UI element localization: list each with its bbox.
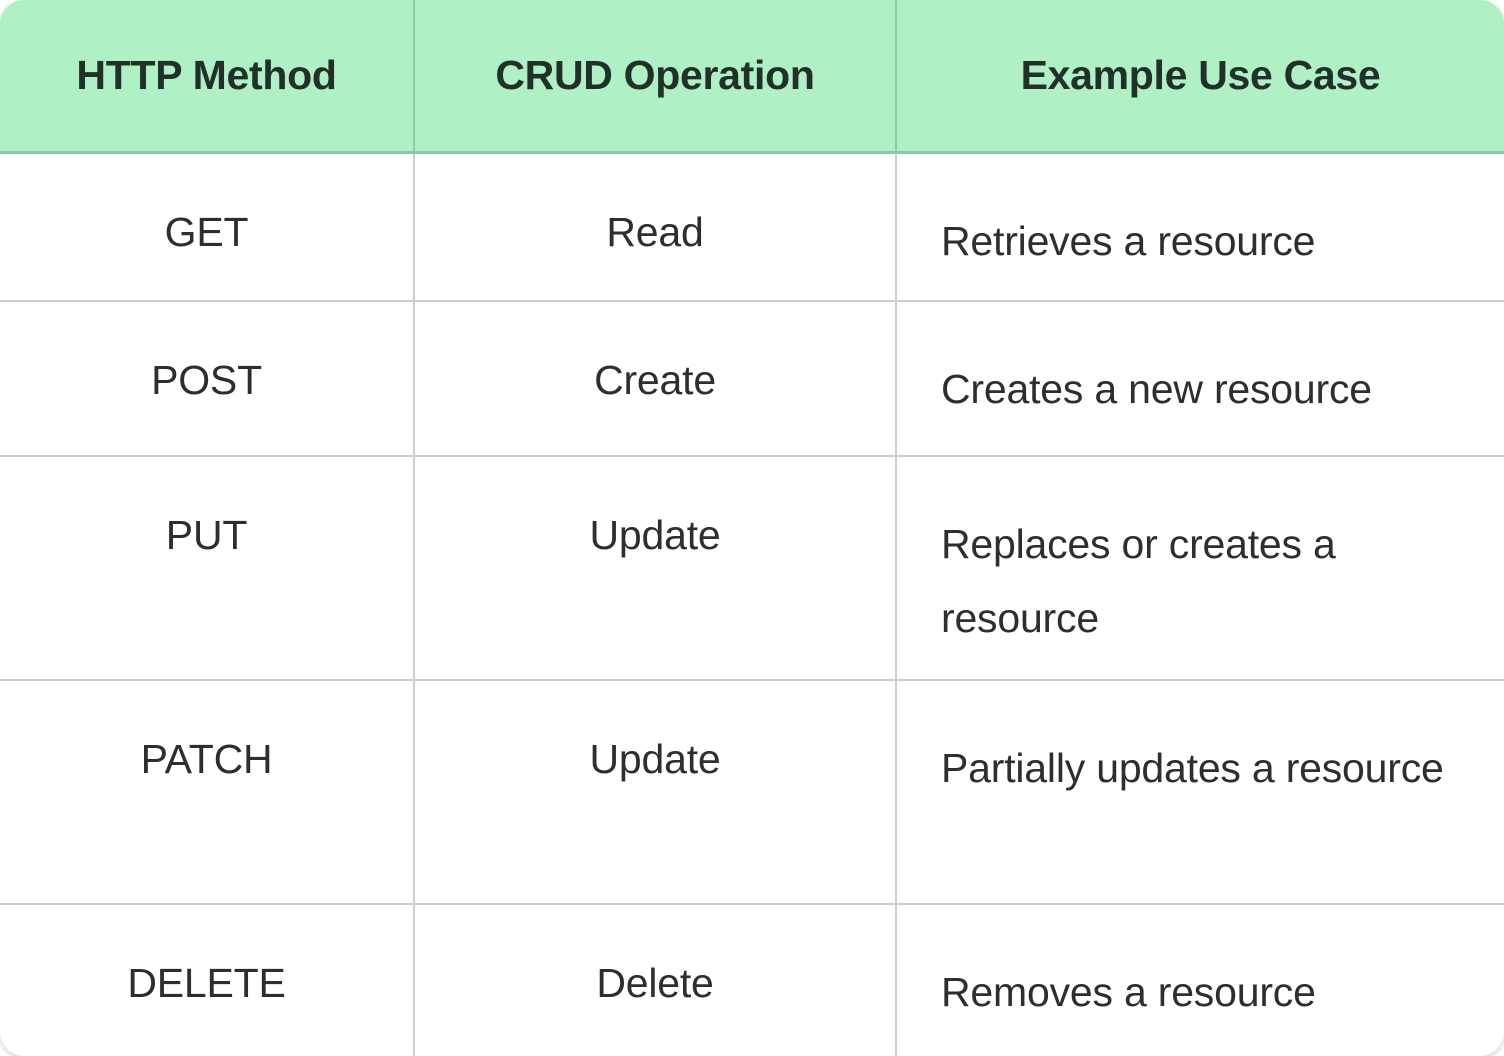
column-header-crud-operation: CRUD Operation xyxy=(414,0,896,152)
cell-http-method: PATCH xyxy=(0,680,414,904)
http-method-crud-table: HTTP Method CRUD Operation Example Use C… xyxy=(0,0,1504,1056)
column-header-http-method: HTTP Method xyxy=(0,0,414,152)
table-header: HTTP Method CRUD Operation Example Use C… xyxy=(0,0,1504,152)
cell-example-use-case: Retrieves a resource xyxy=(896,152,1504,301)
crud-table-container: HTTP Method CRUD Operation Example Use C… xyxy=(0,0,1504,1056)
cell-crud-operation: Update xyxy=(414,456,896,680)
cell-example-use-case: Replaces or creates a resource xyxy=(896,456,1504,680)
table-row: PATCH Update Partially updates a resourc… xyxy=(0,680,1504,904)
cell-crud-operation: Create xyxy=(414,301,896,456)
table-header-row: HTTP Method CRUD Operation Example Use C… xyxy=(0,0,1504,152)
cell-http-method: GET xyxy=(0,152,414,301)
cell-crud-operation: Update xyxy=(414,680,896,904)
table-row: GET Read Retrieves a resource xyxy=(0,152,1504,301)
table-row: DELETE Delete Removes a resource xyxy=(0,904,1504,1056)
cell-example-use-case: Creates a new resource xyxy=(896,301,1504,456)
cell-example-use-case: Partially updates a resource xyxy=(896,680,1504,904)
cell-example-use-case: Removes a resource xyxy=(896,904,1504,1056)
cell-http-method: DELETE xyxy=(0,904,414,1056)
cell-http-method: PUT xyxy=(0,456,414,680)
table-body: GET Read Retrieves a resource POST Creat… xyxy=(0,152,1504,1056)
table-row: PUT Update Replaces or creates a resourc… xyxy=(0,456,1504,680)
cell-crud-operation: Delete xyxy=(414,904,896,1056)
table-row: POST Create Creates a new resource xyxy=(0,301,1504,456)
cell-http-method: POST xyxy=(0,301,414,456)
cell-crud-operation: Read xyxy=(414,152,896,301)
column-header-example-use-case: Example Use Case xyxy=(896,0,1504,152)
